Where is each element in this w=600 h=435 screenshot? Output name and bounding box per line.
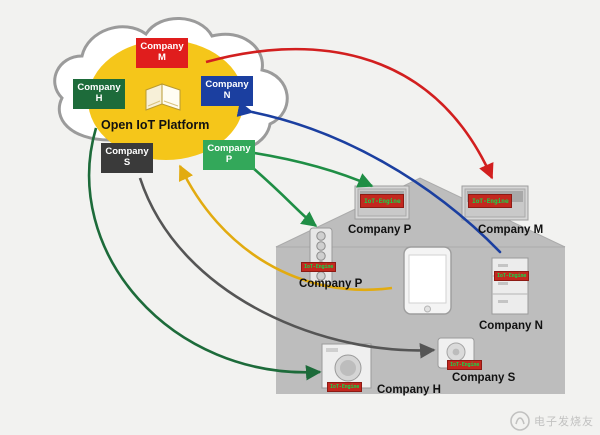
device-tower-cabinet: [492, 258, 528, 314]
chip-company-p-line2: P: [205, 154, 253, 165]
chip-company-m-line2: M: [138, 52, 186, 63]
chip-company-n[interactable]: Company N: [201, 76, 253, 106]
caption-company-m-rack: Company M: [478, 224, 543, 236]
chip-company-p[interactable]: Company P: [203, 140, 255, 170]
watermark: 电子发烧友: [510, 411, 594, 431]
caption-company-n-cabinet: Company N: [479, 320, 543, 332]
caption-company-h-washer: Company H: [377, 384, 441, 396]
engine-badge-company-p-rack: IoT-Engine: [360, 194, 404, 208]
caption-company-p-rack: Company P: [348, 224, 411, 236]
platform-title: Open IoT Platform: [101, 118, 209, 132]
chip-company-h[interactable]: Company H: [73, 79, 125, 109]
engine-badge-company-n-cabinet: IoT-Engine: [494, 271, 529, 281]
chip-company-s-line1: Company: [103, 146, 151, 157]
engine-badge-company-h-washer: IoT-Engine: [327, 382, 362, 392]
engine-badge-company-p-controller: IoT-Engine: [301, 262, 336, 272]
diagram-artwork: [0, 0, 600, 435]
chip-company-h-line1: Company: [75, 82, 123, 93]
device-controller-strip: [310, 228, 332, 284]
diagram-canvas: Company M Company N Company H Company S …: [0, 0, 600, 435]
engine-badge-company-m-rack: IoT-Engine: [468, 194, 512, 208]
chip-company-p-line1: Company: [205, 143, 253, 154]
watermark-logo-icon: [510, 411, 530, 431]
caption-company-p-controller: Company P: [299, 278, 362, 290]
chip-company-m-line1: Company: [138, 41, 186, 52]
chip-company-s-line2: S: [103, 157, 151, 168]
caption-company-s-ac: Company S: [452, 372, 515, 384]
device-tablet: [404, 247, 451, 314]
chip-company-h-line2: H: [75, 93, 123, 104]
watermark-text: 电子发烧友: [534, 413, 594, 429]
chip-company-n-line1: Company: [203, 79, 251, 90]
chip-company-n-line2: N: [203, 90, 251, 101]
chip-company-m[interactable]: Company M: [136, 38, 188, 68]
engine-badge-company-s-ac: IoT-Engine: [447, 360, 482, 370]
chip-company-s[interactable]: Company S: [101, 143, 153, 173]
